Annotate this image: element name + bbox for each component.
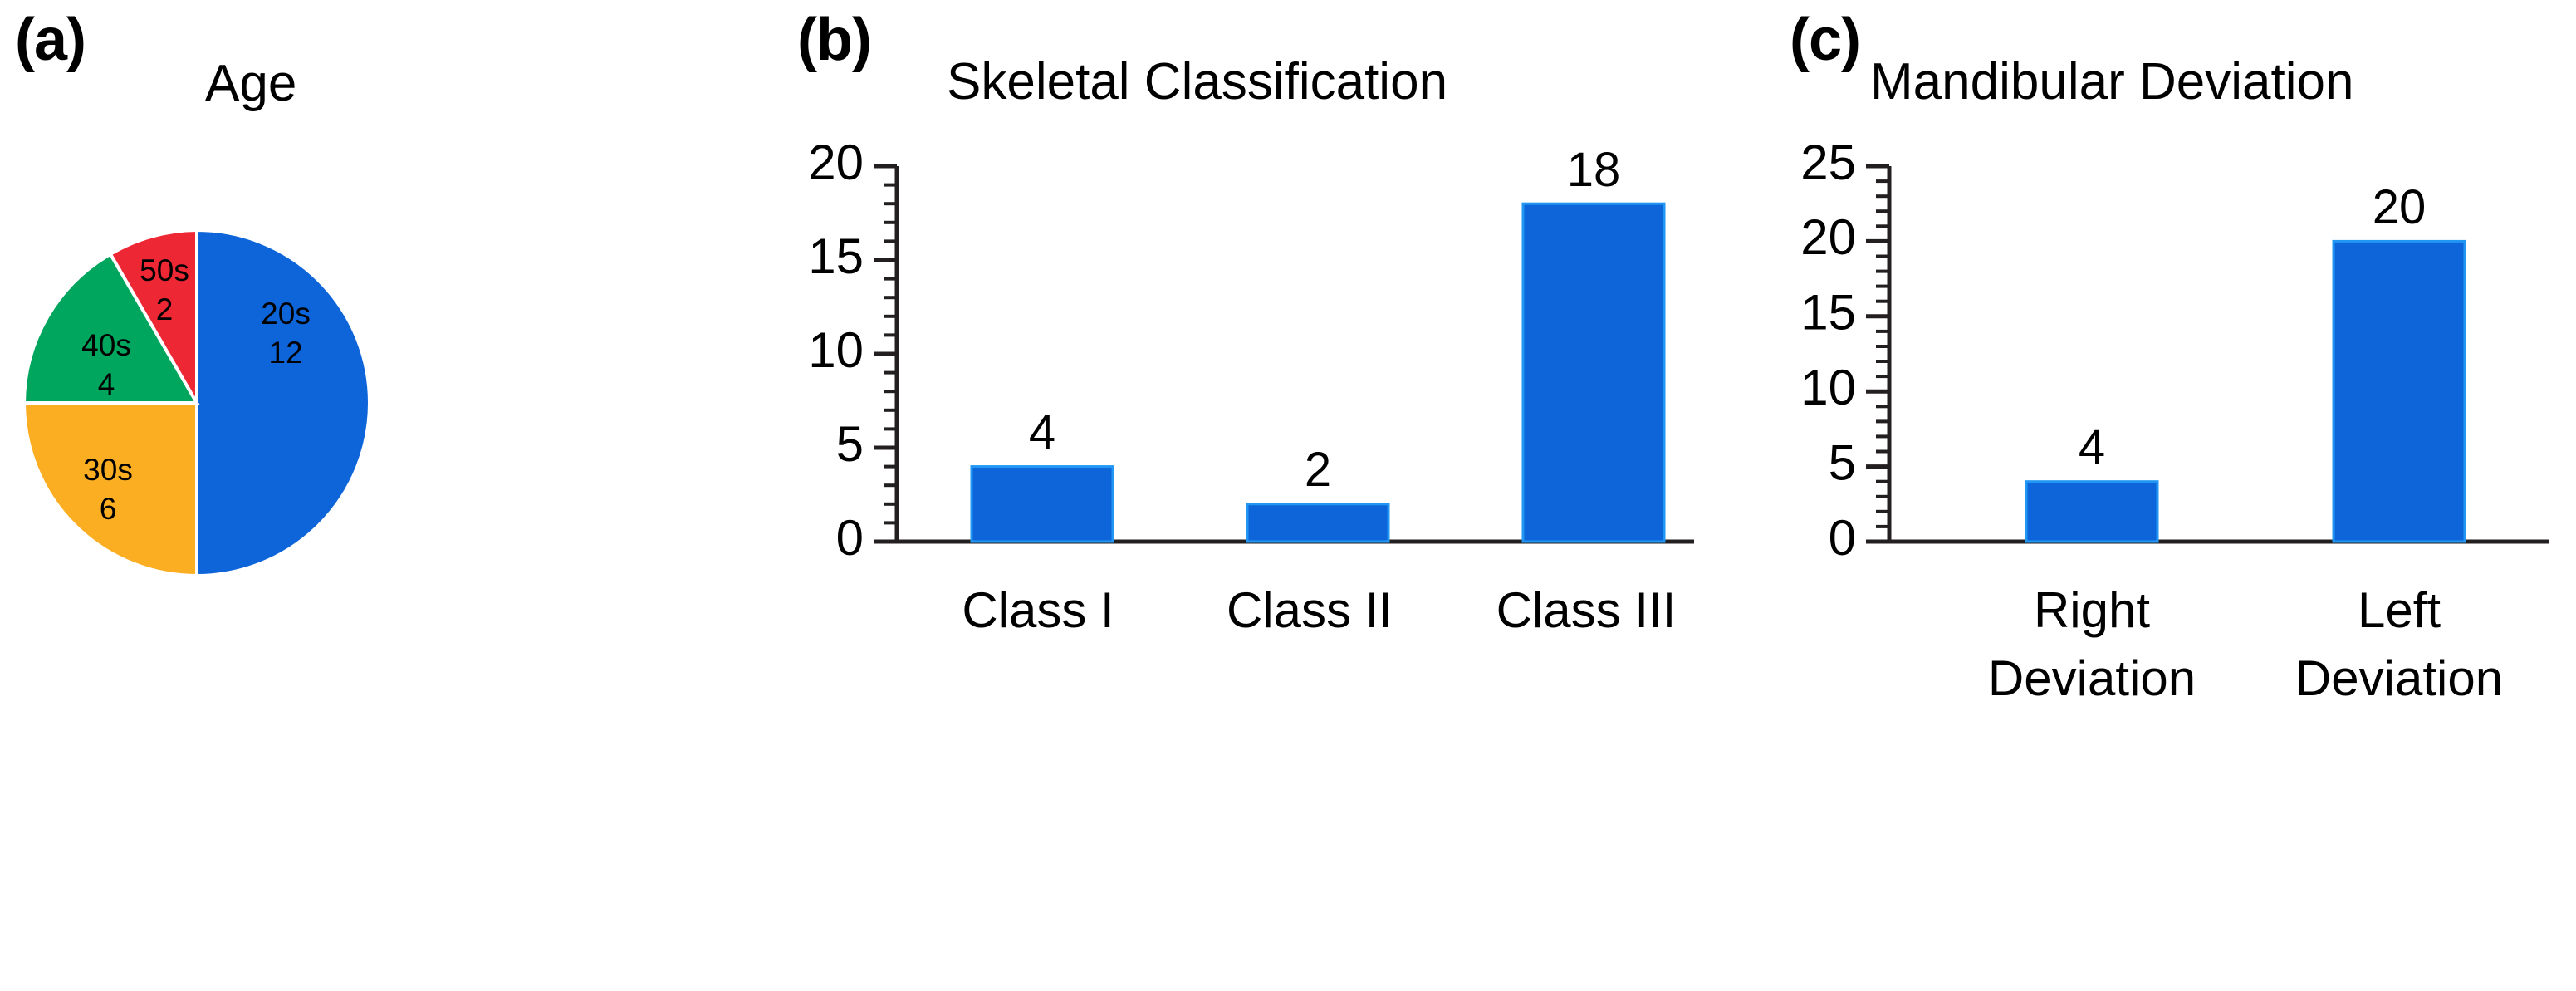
pie-slice-value-30s: 6 (100, 492, 117, 526)
pie-slice-value-50s: 2 (156, 292, 174, 326)
y-tick-label-5: 5 (836, 416, 864, 472)
pie-slice-value-40s: 4 (98, 367, 115, 401)
panel-letter-b: (b) (797, 10, 871, 70)
bar-class-ii[interactable] (1247, 504, 1388, 542)
x-tick-label-class-ii: Class II (1227, 582, 1393, 638)
pie-slice-value-20s: 12 (268, 336, 302, 370)
pie-slice-label-50s: 50s (140, 253, 189, 287)
bar-value-right-deviation: 4 (2079, 420, 2105, 474)
panel-letter-a: (a) (15, 10, 86, 70)
bar-class-iii[interactable] (1523, 204, 1664, 542)
panel-letter-c: (c) (1790, 10, 1860, 70)
x-tick-label-right-deviation-line1: Right (2034, 582, 2150, 638)
pie-chart-age: 20s 12 30s 6 40s 4 50s 2 (18, 224, 375, 581)
panel-title-mandibular-deviation: Mandibular Deviation (1870, 56, 2353, 108)
x-tick-label-left-deviation-line2: Deviation (2295, 650, 2503, 706)
bar-left-deviation[interactable] (2334, 241, 2465, 542)
pie-slice-label-30s: 30s (83, 453, 133, 487)
y-axis-major-ticks (1866, 166, 1889, 542)
y-tick-label-15: 15 (1800, 285, 1856, 341)
bar-value-class-iii: 18 (1567, 143, 1621, 197)
pie-slice-30s[interactable] (24, 403, 197, 576)
x-tick-label-class-i: Class I (962, 582, 1114, 638)
figure-canvas: (a) Age 20s 12 30s 6 40s 4 50s 2 (0, 0, 2576, 991)
y-tick-label-10: 10 (808, 322, 864, 378)
y-tick-label-0: 0 (836, 510, 864, 566)
y-tick-label-15: 15 (808, 228, 864, 284)
bar-chart-skeletal-classification: 0 5 10 15 20 4 2 18 Class I Class II Cla… (797, 116, 1727, 991)
bar-value-class-ii: 2 (1305, 443, 1331, 497)
pie-slice-label-40s: 40s (81, 328, 131, 362)
y-tick-label-20: 20 (1800, 209, 1856, 265)
y-tick-label-10: 10 (1800, 360, 1856, 415)
panel-title-skeletal-classification: Skeletal Classification (947, 56, 1447, 108)
bar-value-class-i: 4 (1029, 405, 1055, 459)
y-tick-label-25: 25 (1800, 135, 1856, 190)
panel-title-age: Age (205, 58, 296, 110)
pie-slice-label-20s: 20s (261, 297, 311, 331)
x-tick-label-left-deviation-line1: Left (2358, 582, 2441, 638)
bar-value-left-deviation: 20 (2373, 180, 2427, 234)
pie-slice-20s[interactable] (197, 230, 370, 576)
bar-right-deviation[interactable] (2026, 482, 2157, 542)
x-tick-label-right-deviation-line2: Deviation (1988, 650, 2196, 706)
y-tick-label-0: 0 (1829, 510, 1856, 566)
x-tick-label-class-iii: Class III (1496, 582, 1677, 638)
y-tick-label-20: 20 (808, 135, 864, 190)
y-tick-label-5: 5 (1829, 434, 1856, 490)
bar-class-i[interactable] (972, 467, 1113, 542)
bar-chart-mandibular-deviation: 0 5 10 15 20 25 4 20 Right Deviation Lef… (1790, 116, 2576, 991)
